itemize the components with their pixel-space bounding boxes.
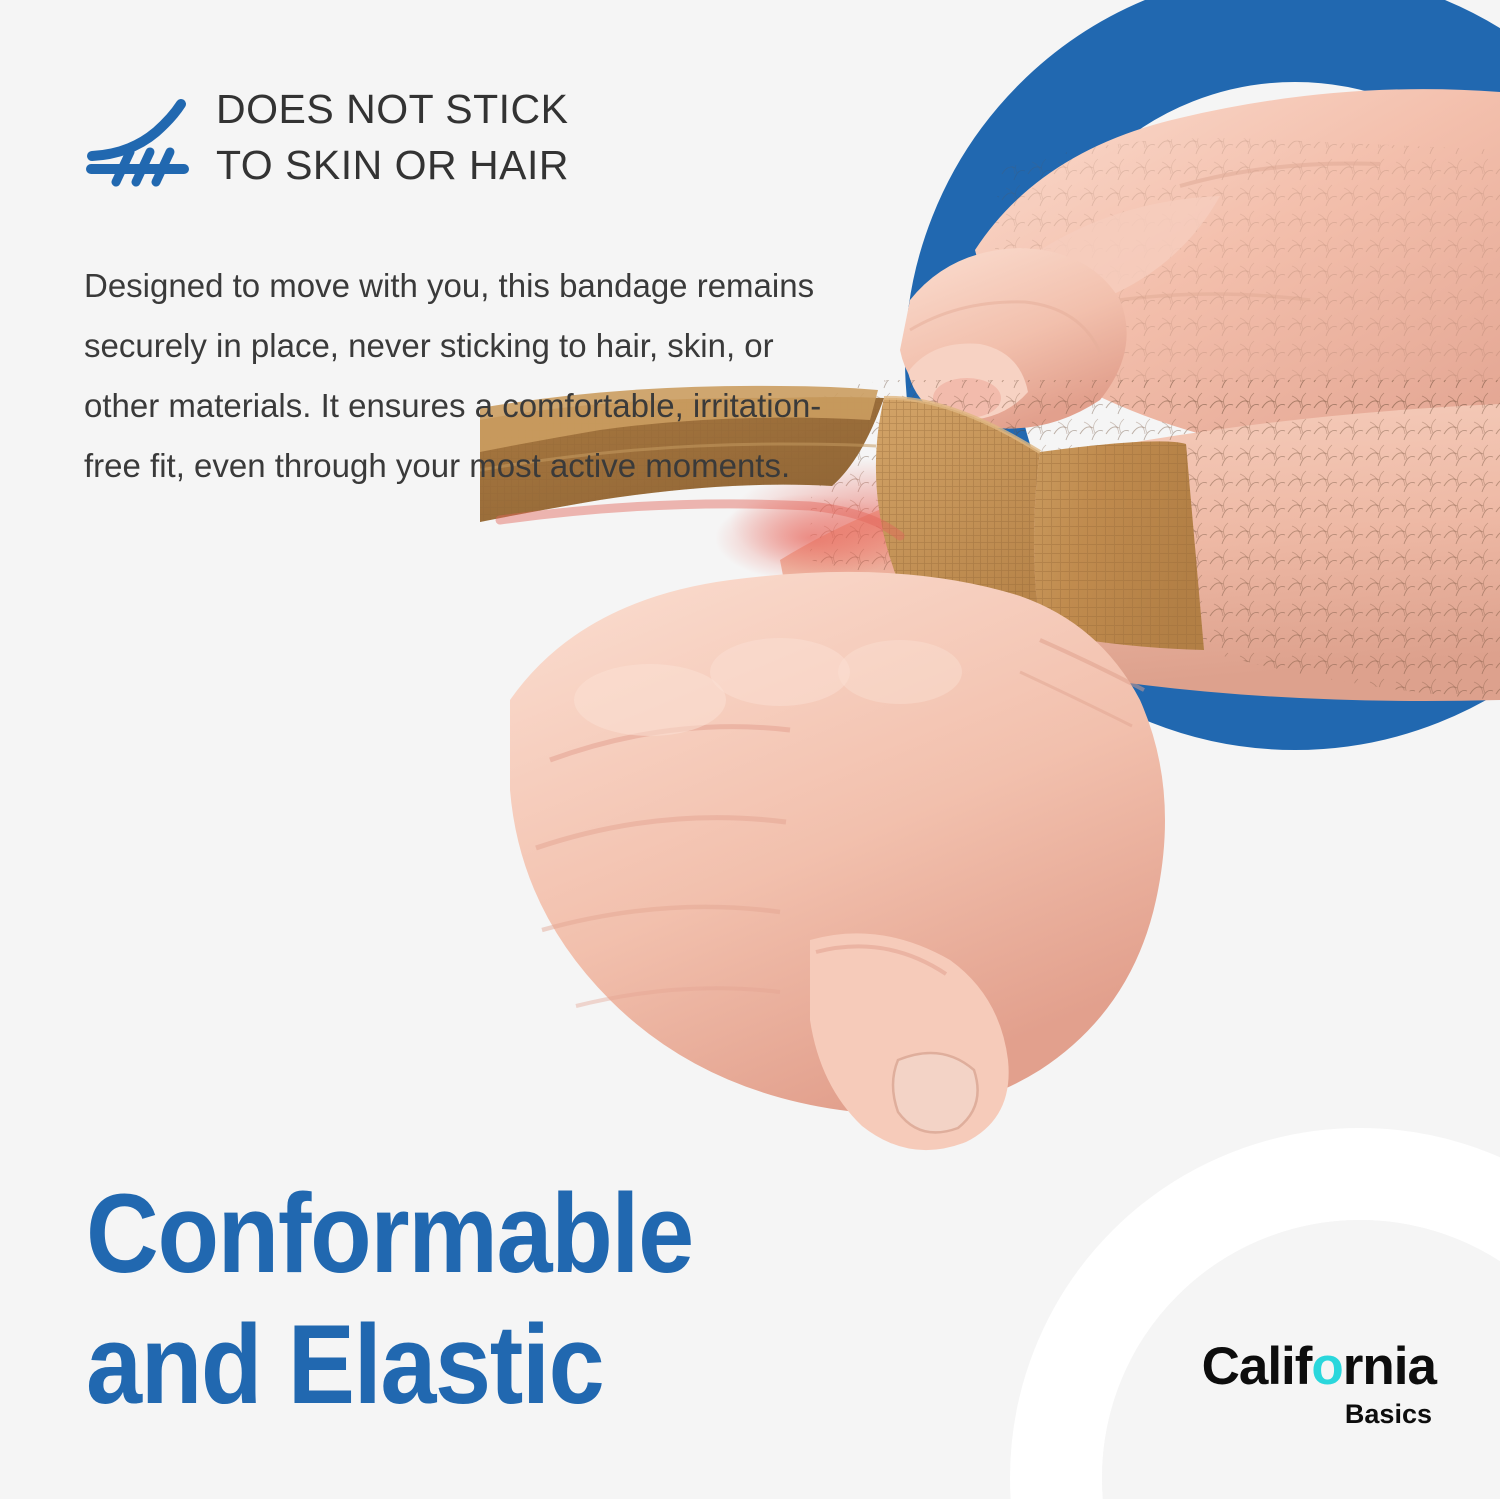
non-stick-surface-icon <box>84 90 192 190</box>
brand-name-part2: rnia <box>1343 1337 1436 1396</box>
brand-tagline: Basics <box>1166 1401 1432 1428</box>
brand-logo: California Basics <box>1166 1340 1436 1428</box>
brand-name: California <box>1166 1340 1436 1393</box>
product-feature-banner: DOES NOT STICK TO SKIN OR HAIR Designed … <box>0 0 1500 1499</box>
brand-name-part1: Calif <box>1202 1337 1312 1396</box>
main-headline: Conformable and Elastic <box>86 1168 693 1430</box>
feature-text-column: DOES NOT STICK TO SKIN OR HAIR Designed … <box>84 78 874 496</box>
feature-title: DOES NOT STICK TO SKIN OR HAIR <box>216 78 569 194</box>
brand-name-o-accent: o <box>1311 1337 1342 1396</box>
feature-heading-row: DOES NOT STICK TO SKIN OR HAIR <box>84 78 874 194</box>
feature-description: Designed to move with you, this bandage … <box>84 194 854 496</box>
